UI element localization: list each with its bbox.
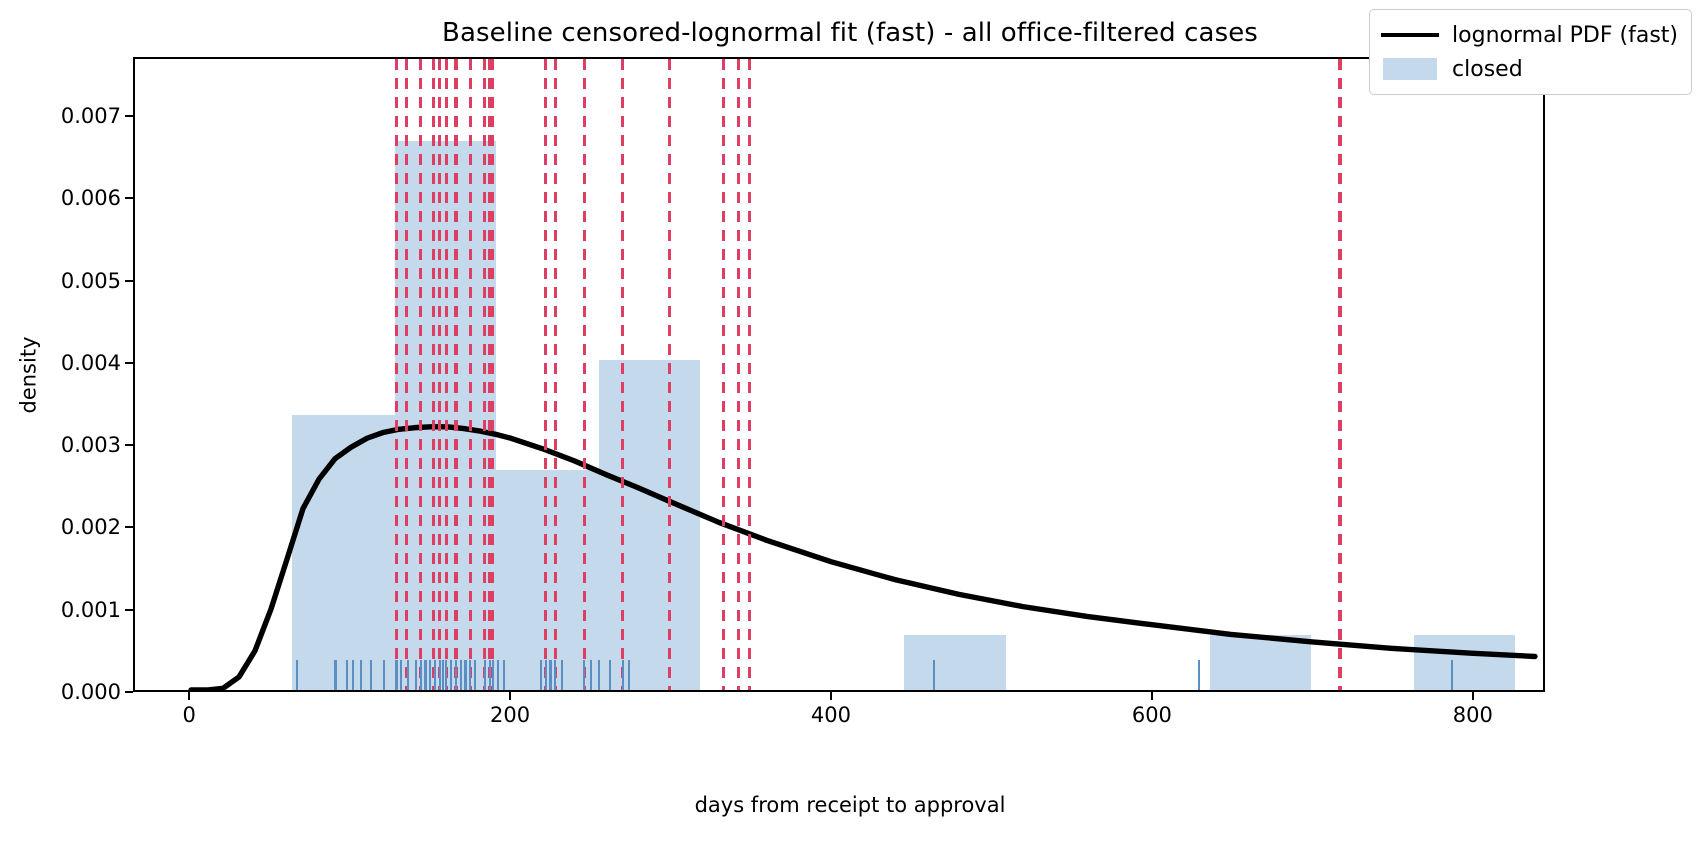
rug-tick [598,660,600,690]
y-tick-mark [125,444,133,446]
legend-item-pdf[interactable]: lognormal PDF (fast) [1381,19,1678,51]
rug-tick [549,660,551,690]
y-tick-label: 0.006 [61,186,121,210]
y-tick-mark [125,362,133,364]
rug-tick [622,660,624,690]
reference-vline [454,59,457,690]
rug-tick [492,660,494,690]
reference-vline [668,59,671,690]
rug-tick [1198,660,1200,690]
rug-tick [628,660,630,690]
reference-vline [419,59,422,690]
rug-tick [1451,660,1453,690]
rug-tick [296,660,298,690]
rug-tick [554,660,556,690]
y-tick-mark [125,526,133,528]
rug-tick [395,660,397,690]
rug-tick [424,660,426,690]
rug-tick [464,660,466,690]
rug-tick [334,660,336,690]
x-tick-label: 800 [1453,703,1493,727]
x-tick-mark [188,692,190,700]
reference-vline [722,59,725,690]
reference-vline [621,59,624,690]
rug-tick [360,660,362,690]
plot-axes [133,57,1545,692]
rug-tick [442,660,444,690]
y-tick-label: 0.004 [61,351,121,375]
reference-vline [491,59,494,690]
x-tick-mark [1472,692,1474,700]
reference-vline [748,59,751,690]
reference-vline [1338,59,1341,690]
x-axis-label: days from receipt to approval [0,793,1700,817]
plot-area [135,59,1543,690]
reference-vline [483,59,486,690]
x-tick-mark [509,692,511,700]
rug-tick [609,660,611,690]
rug-tick [484,660,486,690]
reference-vline [469,59,472,690]
legend-item-closed[interactable]: closed [1381,53,1678,85]
y-tick-label: 0.003 [61,433,121,457]
legend-patch-key-icon [1381,58,1439,80]
y-tick-mark [125,609,133,611]
rug-tick [450,660,452,690]
y-tick-label: 0.000 [61,680,121,704]
reference-vline [554,59,557,690]
y-tick-label: 0.007 [61,104,121,128]
reference-vline [432,59,435,690]
reference-vline [737,59,740,690]
rug-tick [415,660,417,690]
reference-vline [395,59,398,690]
rug-tick [434,660,436,690]
x-tick-label: 0 [182,703,195,727]
rug-tick [503,660,505,690]
rug-tick [346,660,348,690]
y-tick-mark [125,280,133,282]
legend-line-key-icon [1381,24,1439,46]
rug-tick [469,660,471,690]
y-tick-label: 0.005 [61,269,121,293]
reference-vline [438,59,441,690]
x-tick-label: 600 [1132,703,1172,727]
rug-tick [429,660,431,690]
y-tick-label: 0.001 [61,598,121,622]
y-tick-mark [125,691,133,693]
rug-tick [352,660,354,690]
rug-tick [561,660,563,690]
rug-tick [545,660,547,690]
rug-tick [455,660,457,690]
rug-tick [407,660,409,690]
pdf-curve [135,59,1543,690]
rug-tick [933,660,935,690]
rug-tick [383,660,385,690]
reference-vline [405,59,408,690]
y-tick-mark [125,197,133,199]
legend-label-pdf: lognormal PDF (fast) [1452,23,1678,48]
rug-tick [439,660,441,690]
y-tick-mark [125,115,133,117]
rug-tick [590,660,592,690]
rug-tick [474,660,476,690]
y-tick-label: 0.002 [61,515,121,539]
rug-tick [540,660,542,690]
reference-vline [583,59,586,690]
x-tick-mark [1151,692,1153,700]
x-tick-label: 200 [490,703,530,727]
x-tick-mark [830,692,832,700]
reference-vline [445,59,448,690]
rug-tick [583,660,585,690]
legend-label-closed: closed [1452,57,1523,82]
rug-tick [400,660,402,690]
chart-figure: Baseline censored-lognormal fit (fast) -… [0,0,1700,850]
y-axis-label: density [17,337,41,414]
rug-tick [460,660,462,690]
chart-legend[interactable]: lognormal PDF (fast) closed [1369,9,1692,95]
rug-tick [445,660,447,690]
reference-vline [544,59,547,690]
rug-tick [497,660,499,690]
x-tick-label: 400 [811,703,851,727]
rug-tick [370,660,372,690]
rug-tick [489,660,491,690]
rug-tick [420,660,422,690]
